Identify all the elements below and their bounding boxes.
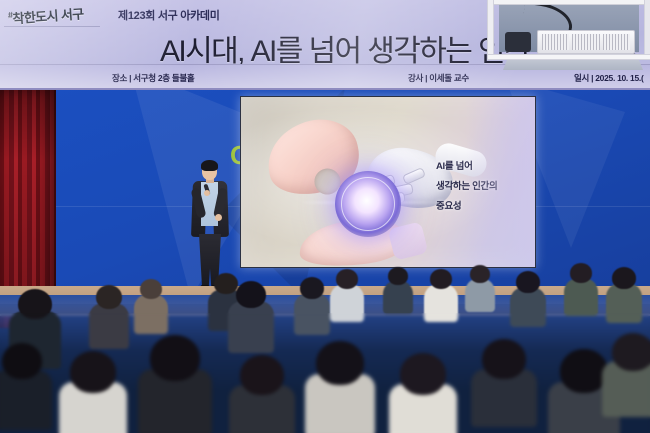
- audience-member-head: [140, 279, 162, 299]
- projector-lens-icon: [505, 32, 531, 52]
- audience-member-head: [240, 355, 284, 395]
- audience-member-body: [510, 287, 546, 327]
- banner-speaker: 강사 | 이세돌 교수: [408, 72, 469, 84]
- audience-member-body: [424, 284, 458, 322]
- hand-holding-microphone: [204, 190, 210, 196]
- projector-vent: [542, 34, 569, 50]
- audience-member-head: [570, 263, 592, 283]
- audience-member-head: [150, 335, 200, 381]
- hair: [201, 160, 218, 171]
- audience-member-head: [430, 269, 452, 289]
- audience-member-head: [2, 343, 42, 379]
- screen-color-fringe: [465, 97, 535, 267]
- projector-vent: [572, 34, 599, 50]
- projector-cage-left: [487, 0, 494, 60]
- audience-member-head: [516, 271, 540, 293]
- ceiling-projector: [483, 0, 650, 80]
- audience-member-body: [564, 278, 598, 316]
- projector-cage-top: [487, 0, 650, 5]
- city-logo-text: 착한도시 서구: [12, 6, 84, 26]
- audience: [0, 255, 650, 433]
- audience-member-body: [134, 294, 168, 334]
- audience-member-body: [330, 284, 364, 322]
- audience-member-head: [388, 267, 408, 285]
- audience-member-head: [400, 353, 446, 395]
- audience-member-head: [482, 339, 526, 379]
- projector-cage-right: [644, 0, 650, 60]
- projection-screen: AI를 넘어 생각하는 인간의 중요성: [240, 96, 536, 268]
- projector-cage-bar: [487, 54, 650, 60]
- audience-member-body: [383, 280, 413, 314]
- audience-member-body: [228, 301, 274, 353]
- banner-subtitle: 제123회 서구 아카데미: [118, 7, 220, 23]
- hand-right: [215, 214, 222, 221]
- orb-ring: [341, 177, 395, 231]
- audience-member-head: [470, 265, 490, 283]
- logo-underline: [4, 26, 100, 27]
- audience-member-head: [214, 273, 238, 294]
- audience-member-head: [612, 333, 650, 371]
- city-logo: #착한도시 서구: [7, 3, 84, 27]
- audience-member-body: [294, 293, 330, 335]
- banner-place: 장소 | 서구청 2층 들불홀: [112, 72, 194, 84]
- lecture-hall-photo: O AI를 넘어 생각하는 인간의 중요성: [0, 0, 650, 433]
- projector-vent: [603, 34, 630, 50]
- audience-member-head: [70, 351, 116, 393]
- projector-body: [537, 30, 635, 54]
- audience-member-body: [606, 283, 642, 323]
- audience-member-head: [612, 267, 636, 289]
- audience-member-body: [465, 278, 495, 312]
- audience-member-head: [236, 281, 266, 308]
- audience-member-head: [18, 289, 52, 319]
- audience-member-head: [96, 285, 122, 309]
- audience-member-head: [336, 269, 358, 289]
- audience-member-body: [89, 303, 129, 349]
- audience-member-head: [300, 277, 324, 299]
- audience-member-head: [560, 349, 608, 393]
- audience-member-head: [316, 341, 364, 385]
